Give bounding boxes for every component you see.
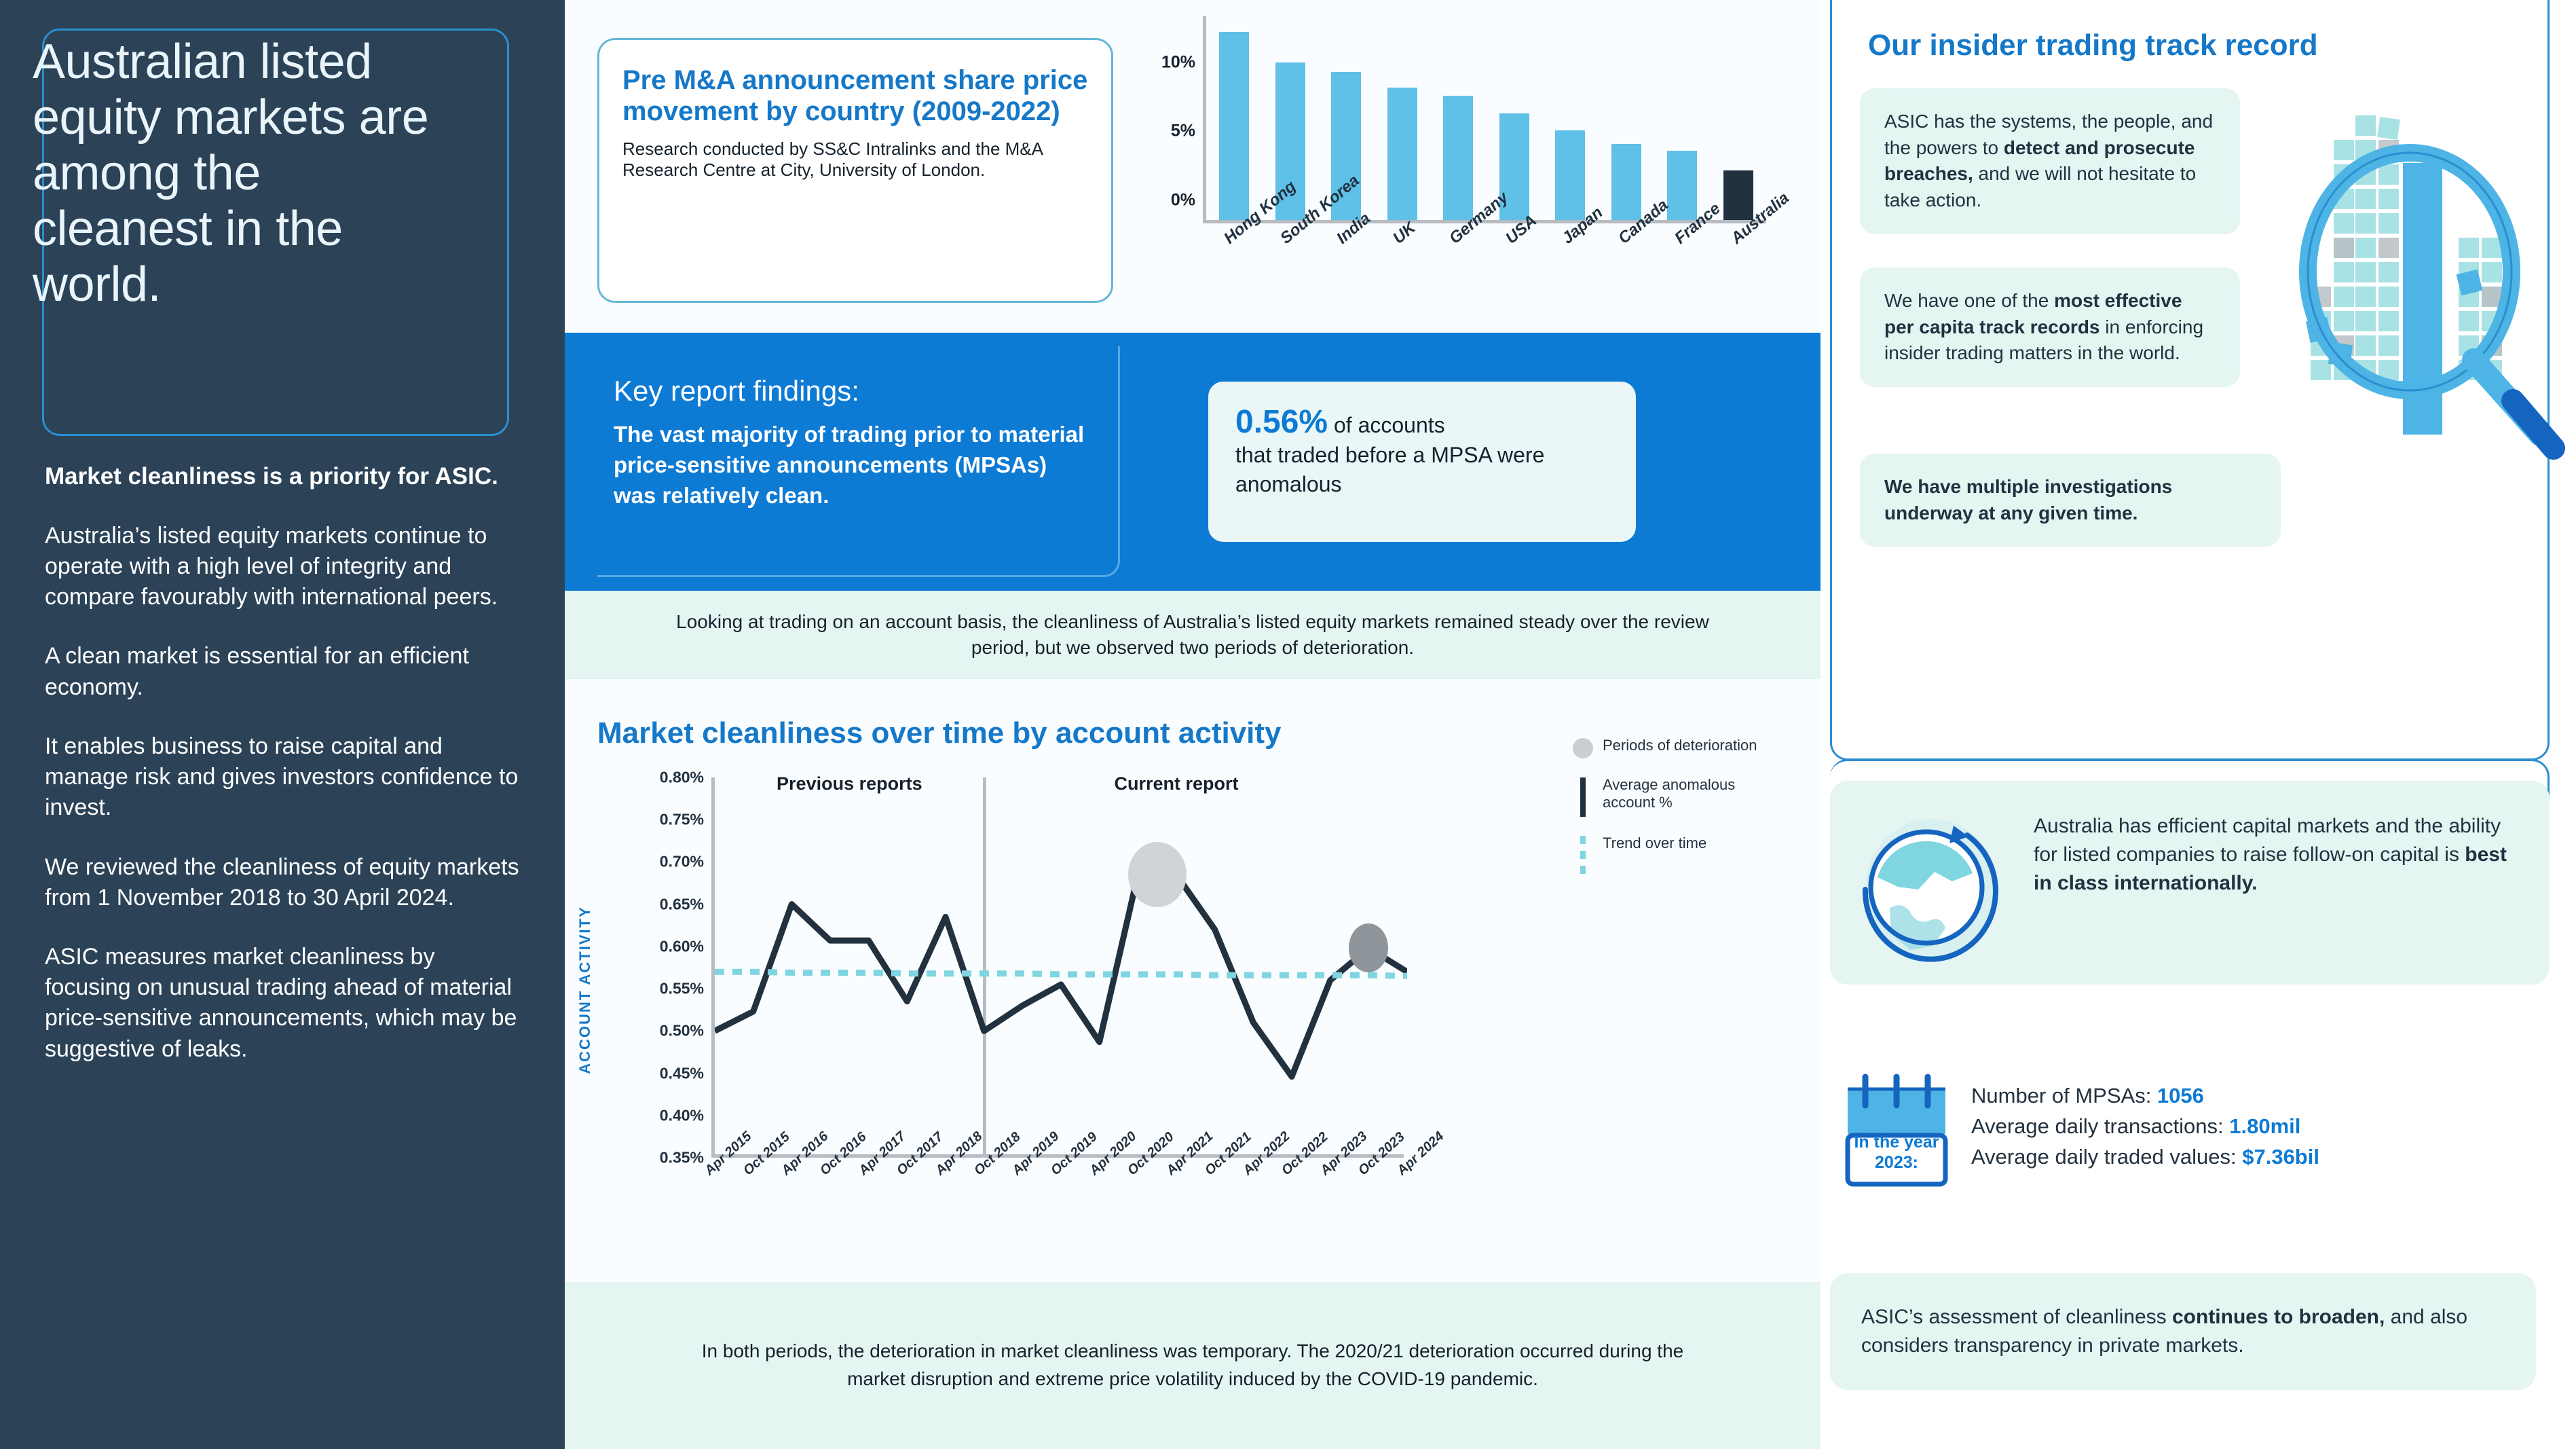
line-chart-x-axis: Apr 2015Oct 2015Apr 2016Oct 2016Apr 2017… (711, 1164, 1404, 1253)
caption-bottom: In both periods, the deterioration in ma… (565, 1282, 1821, 1449)
stat-value: 0.56% (1235, 404, 1328, 440)
deterioration-marker (1128, 842, 1187, 907)
calendar-label: In the year 2023: (1842, 1133, 1951, 1173)
track-record-card-2: We have one of the most effective per ca… (1860, 268, 2240, 387)
bar-y-tick: 5% (1171, 122, 1195, 141)
ma-card-title: Pre M&A announcement share price movemen… (622, 65, 1088, 128)
bar-y-tick: 10% (1161, 52, 1195, 72)
legend-item: Average anomalous account % (1573, 776, 1790, 817)
intro-body: Market cleanliness is a priority for ASI… (45, 462, 524, 1093)
stat-value: $7.36bil (2242, 1145, 2319, 1169)
bar (1387, 88, 1417, 220)
key-findings-text: The vast majority of trading prior to ma… (614, 420, 1089, 511)
main-content-column: Pre M&A announcement share price movemen… (565, 0, 1821, 1449)
stat-card-line1: 0.56% of accounts (1235, 403, 1609, 441)
stat-label: Number of MPSAs: (1971, 1084, 2157, 1107)
deterioration-marker (1349, 923, 1388, 972)
dashed-line-icon (1580, 836, 1586, 875)
intro-paragraph: We reviewed the cleanliness of equity ma… (45, 852, 524, 913)
stat-row: Average daily transactions: 1.80mil (1971, 1112, 2555, 1142)
stat-suffix: of accounts (1328, 413, 1445, 437)
line-y-tick: 0.35% (660, 1149, 704, 1167)
line-y-tick: 0.65% (660, 895, 704, 913)
intro-paragraph: A clean market is essential for an effic… (45, 641, 524, 702)
bar-y-tick: 0% (1171, 191, 1195, 210)
bar-chart-x-axis: Hong KongSouth KoreaIndiaUKGermanyUSAJap… (1203, 231, 1766, 326)
caption-top: Looking at trading on an account basis, … (565, 591, 1821, 679)
stat-row: Number of MPSAs: 1056 (1971, 1081, 2555, 1112)
year-stats-list: Number of MPSAs: 1056 Average daily tran… (1971, 1081, 2555, 1173)
card5-pre: ASIC’s assessment of cleanliness (1861, 1306, 2172, 1328)
stat-label: Average daily traded values: (1971, 1145, 2242, 1169)
line-y-tick: 0.70% (660, 853, 704, 871)
line-chart: ACCOUNT ACTIVITY 0.35%0.40%0.45%0.50%0.5… (597, 757, 1548, 1253)
intro-lead: Market cleanliness is a priority for ASI… (45, 462, 524, 492)
key-findings-heading: Key report findings: (614, 375, 859, 407)
left-intro-panel: Australian listed equity markets are amo… (0, 0, 565, 1449)
right-section-title: Our insider trading track record (1868, 29, 2318, 62)
bar (1443, 96, 1473, 220)
stat-card-line2: that traded before a MPSA were anomalous (1235, 441, 1609, 499)
dark-bar-icon (1580, 777, 1586, 817)
key-findings-band: Key report findings: The vast majority o… (565, 333, 1821, 591)
bar-y-tick: 15% (1161, 0, 1195, 3)
line-y-tick: 0.40% (660, 1106, 704, 1124)
grey-circle-icon (1573, 738, 1593, 758)
intro-paragraph: ASIC measures market cleanliness by focu… (45, 942, 524, 1065)
stat-label: Average daily transactions: (1971, 1114, 2229, 1138)
card4-pre: Australia has efficient capital markets … (2034, 815, 2501, 866)
bar-chart: 0%5%10%15% Hong KongSouth KoreaIndiaUKGe… (1115, 7, 1814, 326)
period-label: Current report (1114, 773, 1238, 794)
bar (1611, 144, 1641, 220)
track-record-card-1: ASIC has the systems, the people, and th… (1860, 88, 2240, 234)
line-chart-legend: Periods of deterioration Average anomalo… (1573, 737, 1790, 893)
bar (1723, 170, 1753, 220)
line-chart-series (715, 777, 1407, 1158)
legend-label: Trend over time (1603, 834, 1706, 852)
globe-icon (1850, 809, 2006, 966)
magnifier-illustration (2235, 68, 2574, 475)
card3-text: We have multiple investigations underway… (1884, 476, 2172, 524)
page-title: Australian listed equity markets are amo… (33, 34, 447, 312)
assessment-card: ASIC’s assessment of cleanliness continu… (1830, 1273, 2536, 1390)
stat-card: 0.56% of accounts that traded before a M… (1208, 382, 1636, 542)
legend-item: Periods of deterioration (1573, 737, 1790, 758)
legend-item: Trend over time (1573, 834, 1790, 875)
line-y-tick: 0.80% (660, 769, 704, 787)
line-y-tick: 0.50% (660, 1022, 704, 1040)
stat-row: Average daily traded values: $7.36bil (1971, 1142, 2555, 1173)
card5-bold: continues to broaden, (2172, 1306, 2385, 1328)
intro-paragraph: It enables business to raise capital and… (45, 731, 524, 824)
line-chart-title: Market cleanliness over time by account … (597, 716, 1282, 750)
legend-label: Periods of deterioration (1603, 737, 1757, 754)
line-y-tick: 0.45% (660, 1064, 704, 1082)
caption-bottom-text: In both periods, the deterioration in ma… (690, 1338, 1695, 1393)
line-y-tick: 0.75% (660, 811, 704, 829)
card2-pre: We have one of the (1884, 290, 2054, 311)
line-y-tick: 0.55% (660, 980, 704, 998)
legend-label: Average anomalous account % (1603, 776, 1790, 811)
bar (1555, 130, 1585, 220)
line-chart-plot-area: 0.35%0.40%0.45%0.50%0.55%0.60%0.65%0.70%… (711, 777, 1404, 1158)
right-column: Our insider trading track record (1821, 0, 2576, 1449)
track-record-card-3: We have multiple investigations underway… (1860, 454, 2281, 547)
line-chart-y-axis-label: ACCOUNT ACTIVITY (576, 906, 594, 1074)
caption-top-text: Looking at trading on an account basis, … (663, 609, 1722, 660)
stat-value: 1056 (2157, 1084, 2204, 1107)
intro-paragraph: Australia’s listed equity markets contin… (45, 521, 524, 613)
period-label: Previous reports (777, 773, 922, 794)
line-y-tick: 0.60% (660, 937, 704, 955)
ma-research-card: Pre M&A announcement share price movemen… (597, 38, 1113, 303)
bar (1219, 32, 1249, 220)
ma-card-subtitle: Research conducted by SS&C Intralinks an… (622, 139, 1088, 181)
stat-value: 1.80mil (2229, 1114, 2300, 1138)
